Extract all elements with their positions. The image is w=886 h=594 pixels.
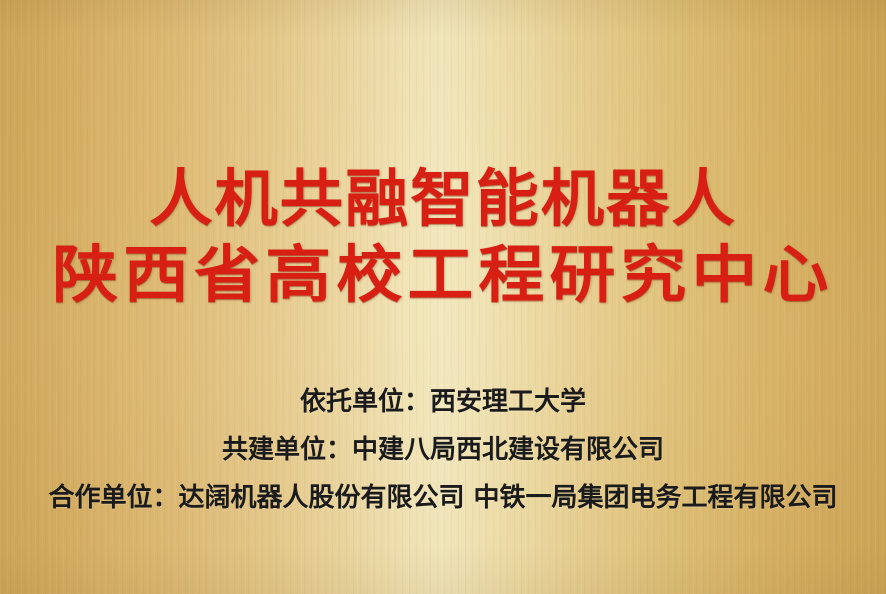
- affiliation-partner-units: 合作单位：达阔机器人股份有限公司 中铁一局集团电务工程有限公司: [0, 485, 886, 511]
- award-plaque: 人机共融智能机器人 陕西省高校工程研究中心 依托单位：西安理工大学 共建单位：中…: [0, 0, 886, 594]
- title-line-2: 陕西省高校工程研究中心: [0, 244, 886, 306]
- affiliation-list: 依托单位：西安理工大学 共建单位：中建八局西北建设有限公司 合作单位：达阔机器人…: [0, 389, 886, 511]
- plaque-title: 人机共融智能机器人 陕西省高校工程研究中心: [0, 168, 886, 306]
- affiliation-host-unit: 依托单位：西安理工大学: [0, 389, 886, 415]
- plaque-content: 人机共融智能机器人 陕西省高校工程研究中心 依托单位：西安理工大学 共建单位：中…: [0, 0, 886, 594]
- affiliation-co-built-unit: 共建单位：中建八局西北建设有限公司: [0, 437, 886, 463]
- title-line-1: 人机共融智能机器人: [0, 168, 886, 230]
